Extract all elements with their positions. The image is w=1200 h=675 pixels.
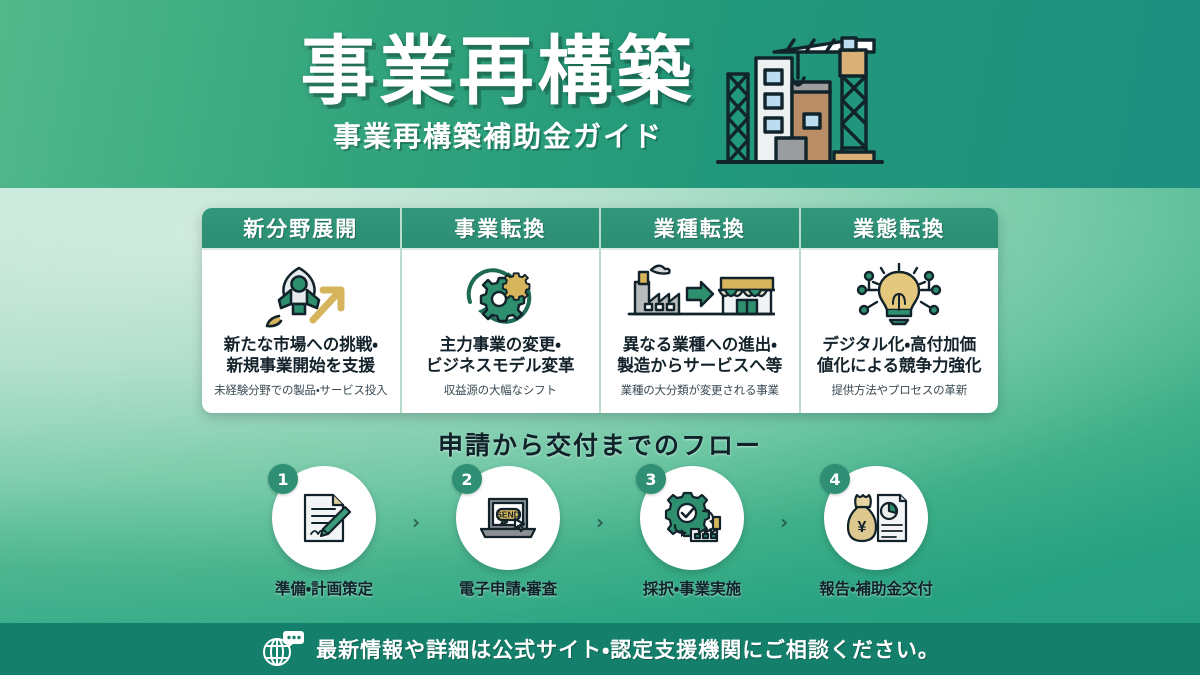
card-title-line1: 新たな市場への挑戦・ — [224, 334, 378, 355]
card-title-line2: 新規事業開始を支援 — [224, 355, 378, 376]
flow-circle: 2 SEND — [456, 466, 560, 570]
card-header-business-switch: 事業転換 — [402, 208, 600, 250]
flow-step-application[interactable]: 2 SEND 電子申請・審査 — [442, 466, 574, 599]
card-head-label: 新分野展開 — [243, 213, 358, 243]
flow-step-label: 報告・補助金交付 — [819, 577, 933, 599]
card-icon-wrap — [625, 258, 775, 332]
card-note-business-switch: 収益源の大幅なシフト — [444, 382, 557, 398]
yen-symbol: ¥ — [858, 519, 867, 536]
card-title-model-switch: デジタル化・高付加価 値化による競争力強化 — [817, 334, 982, 376]
card-icon-wrap — [454, 258, 546, 332]
footer-message: 最新情報や詳細は公式サイト・認定支援機関にご相談ください。 — [316, 634, 940, 664]
card-model-switch[interactable]: 業態転換 — [801, 208, 999, 413]
flow-circle: 1 — [272, 466, 376, 570]
flow-section-title: 申請から交付までのフロー — [0, 426, 1200, 462]
card-note-new-field: 未経験分野での製品・サービス投入 — [214, 382, 387, 398]
page-title: 事業再構築 — [300, 33, 695, 110]
flow-step-number: 3 — [636, 464, 666, 494]
page-subtitle: 事業再構築補助金ガイド — [300, 115, 695, 155]
card-title-new-field: 新たな市場への挑戦・ 新規事業開始を支援 — [224, 334, 378, 376]
footer-bar: 最新情報や詳細は公式サイト・認定支援機関にご相談ください。 — [0, 623, 1200, 675]
flow-arrow-2: › — [596, 510, 604, 534]
laptop-send-icon: SEND — [477, 489, 539, 547]
card-head-label: 事業転換 — [454, 213, 546, 243]
flow-step-preparation[interactable]: 1 準備・計画策定 — [258, 466, 390, 599]
rebuilding-type-card-row: 新分野展開 — [202, 208, 998, 413]
card-header-industry-switch: 業種転換 — [601, 208, 799, 250]
flow-step-grant[interactable]: 4 ¥ 報告・補助金交付 — [810, 466, 942, 599]
card-note-industry-switch: 業種の大分類が変更される事業 — [621, 382, 779, 398]
factory-to-shop-icon — [625, 260, 775, 330]
globe-chat-icon — [260, 629, 304, 669]
card-title-industry-switch: 異なる業種への進出・ 製造からサービスへ等 — [617, 334, 782, 376]
laptop-send-button-text: SEND — [496, 510, 520, 520]
rocket-launch-icon — [255, 260, 347, 330]
lightbulb-circuit-icon — [849, 260, 949, 330]
title-block: 事業再構築 事業再構築補助金ガイド — [300, 33, 695, 156]
card-head-label: 業態転換 — [853, 213, 945, 243]
card-body-business-switch: 主力事業の変更・ ビジネスモデル変革 収益源の大幅なシフト — [402, 250, 600, 413]
card-header-new-field: 新分野展開 — [202, 208, 400, 250]
card-new-field[interactable]: 新分野展開 — [202, 208, 402, 413]
gears-cycle-icon — [454, 260, 546, 330]
card-business-switch[interactable]: 事業転換 — [402, 208, 602, 413]
card-title-line1: 異なる業種への進出・ — [617, 334, 782, 355]
construction-crane-building-icon — [714, 22, 884, 170]
flow-step-label: 電子申請・審査 — [459, 577, 557, 599]
header-banner: 事業再構築 事業再構築補助金ガイド — [0, 0, 1200, 188]
card-industry-switch[interactable]: 業種転換 — [601, 208, 801, 413]
flow-step-number: 2 — [452, 464, 482, 494]
card-title-line2: ビジネスモデル変革 — [426, 355, 575, 376]
flow-step-label: 準備・計画策定 — [275, 577, 373, 599]
card-note-model-switch: 提供方法やプロセスの革新 — [831, 382, 967, 398]
card-body-industry-switch: 異なる業種への進出・ 製造からサービスへ等 業種の大分類が変更される事業 — [601, 250, 799, 413]
card-title-line1: デジタル化・高付加価 — [817, 334, 982, 355]
flow-step-number: 4 — [820, 464, 850, 494]
flow-step-label: 採択・事業実施 — [643, 577, 741, 599]
card-header-model-switch: 業態転換 — [801, 208, 999, 250]
flow-step-adoption[interactable]: 3 — [626, 466, 758, 599]
money-bag-report-icon: ¥ — [844, 489, 908, 547]
document-pen-icon — [295, 489, 353, 547]
card-title-business-switch: 主力事業の変更・ ビジネスモデル変革 — [426, 334, 575, 376]
flow-circle: 3 — [640, 466, 744, 570]
card-title-line2: 製造からサービスへ等 — [617, 355, 782, 376]
flow-step-number: 1 — [268, 464, 298, 494]
card-body-new-field: 新たな市場への挑戦・ 新規事業開始を支援 未経験分野での製品・サービス投入 — [202, 250, 400, 413]
infographic-canvas: 事業再構築 事業再構築補助金ガイド — [0, 0, 1200, 675]
card-title-line2: 値化による競争力強化 — [817, 355, 982, 376]
application-flow: 1 準備・計画策定 › 2 — [258, 466, 942, 598]
card-title-line1: 主力事業の変更・ — [426, 334, 575, 355]
gear-check-factory-icon — [661, 489, 723, 547]
flow-arrow-3: › — [780, 510, 788, 534]
flow-arrow-1: › — [412, 510, 420, 534]
card-body-model-switch: デジタル化・高付加価 値化による競争力強化 提供方法やプロセスの革新 — [801, 250, 999, 413]
card-head-label: 業種転換 — [654, 213, 746, 243]
flow-circle: 4 ¥ — [824, 466, 928, 570]
card-icon-wrap — [255, 258, 347, 332]
card-icon-wrap — [849, 258, 949, 332]
